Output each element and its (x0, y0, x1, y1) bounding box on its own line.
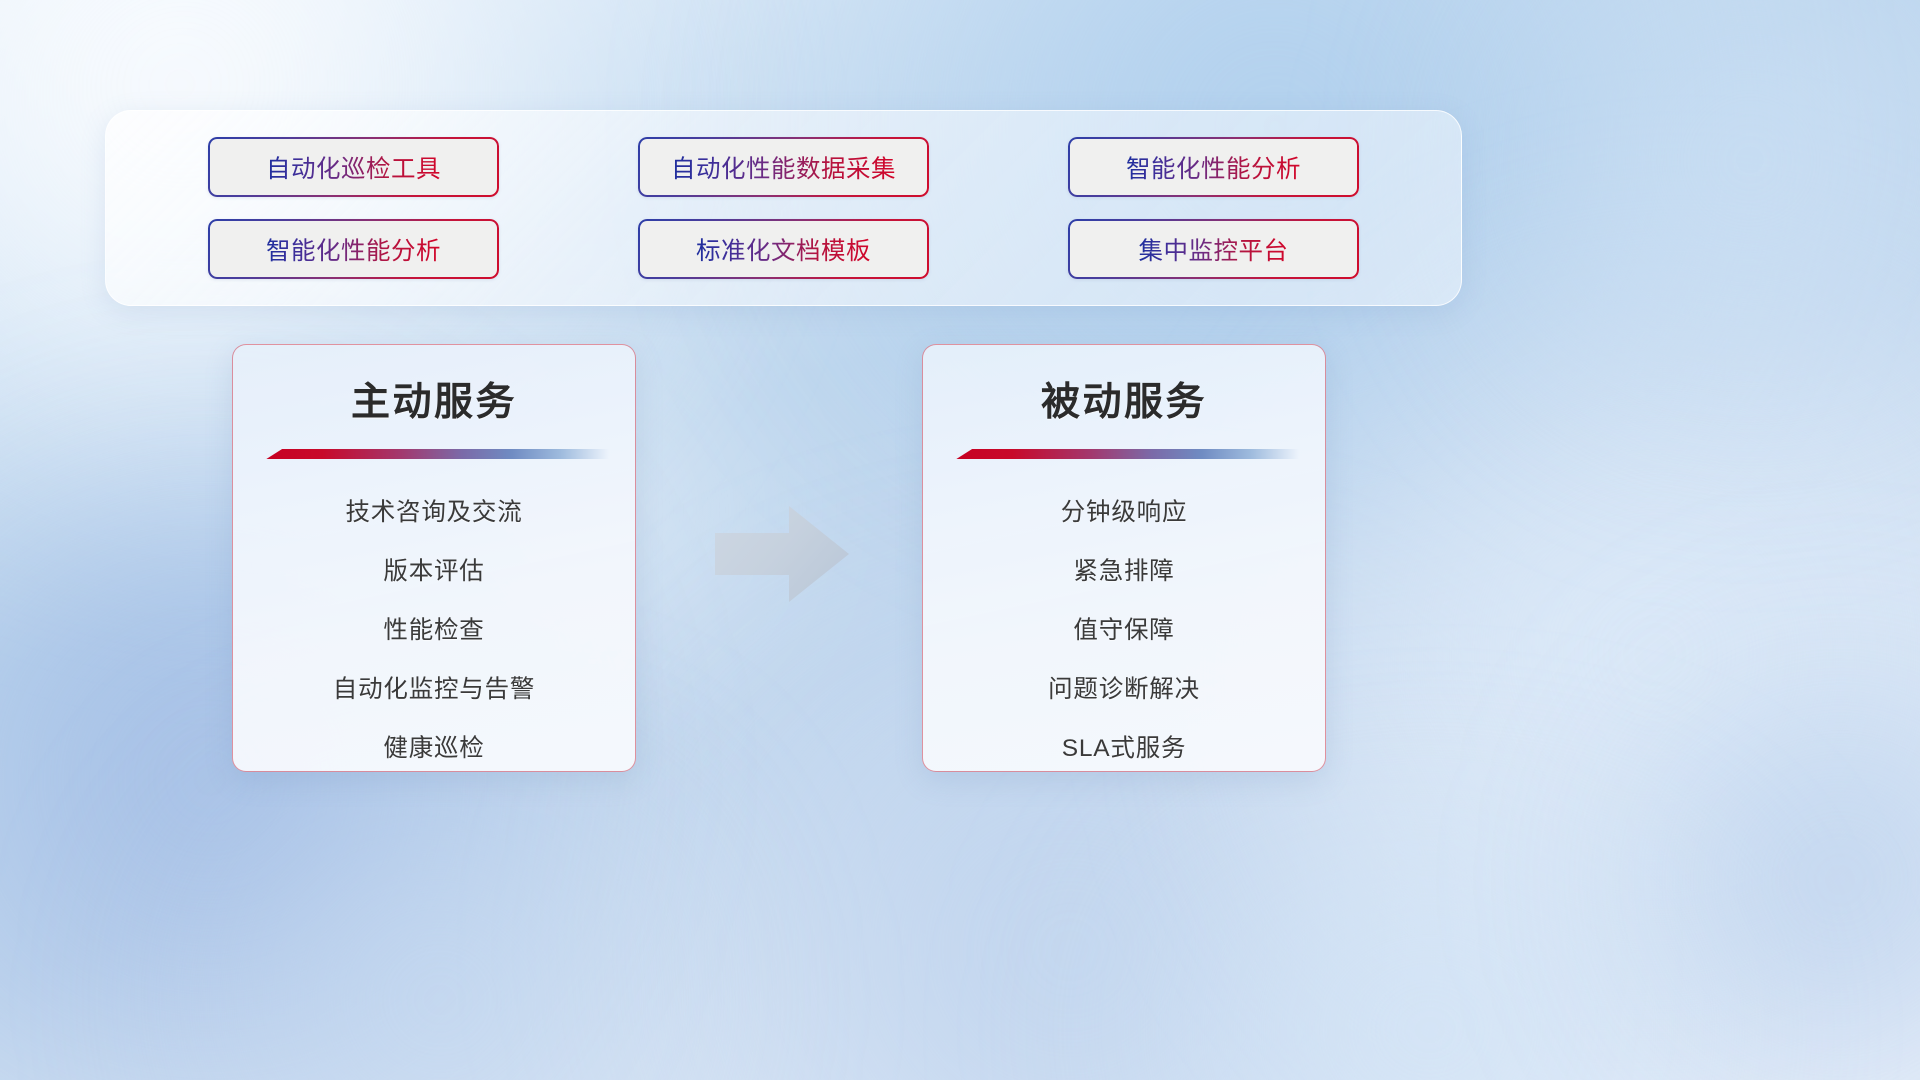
capability-tag-panel: 自动化巡检工具 自动化性能数据采集 智能化性能分析 智能化性能分析 标准化文档模… (105, 110, 1462, 306)
passive-service-card: 被动服务 分钟级响应 紧急排障 值守保障 问题诊断解决 SLA式服务 (922, 344, 1326, 772)
capability-tag-label: 标准化文档模板 (696, 232, 871, 267)
background-glow-bottom-left (60, 760, 820, 1080)
gradient-rule (259, 449, 609, 459)
list-item: 健康巡检 (383, 729, 484, 764)
list-item: 紧急排障 (1073, 552, 1174, 587)
capability-tag-5[interactable]: 标准化文档模板 (638, 219, 929, 279)
gradient-rule (949, 449, 1299, 459)
passive-service-list: 分钟级响应 紧急排障 值守保障 问题诊断解决 SLA式服务 (923, 493, 1325, 764)
background-glow-bottom-right (980, 820, 1880, 1080)
capability-tag-4[interactable]: 智能化性能分析 (208, 219, 499, 279)
capability-tag-label: 自动化性能数据采集 (671, 150, 896, 185)
active-service-card-divider (259, 449, 609, 459)
background-glow-far-right (1580, 620, 1920, 1080)
list-item: 性能检查 (383, 611, 484, 646)
capability-tag-label: 智能化性能分析 (266, 232, 441, 267)
capability-tag-1[interactable]: 自动化巡检工具 (208, 137, 499, 197)
list-item: 值守保障 (1073, 611, 1174, 646)
list-item: 分钟级响应 (1061, 493, 1188, 528)
background-glow-top-right (1400, 0, 1920, 440)
capability-tag-label: 集中监控平台 (1139, 232, 1289, 267)
capability-tag-label: 自动化巡检工具 (266, 150, 441, 185)
capability-tag-label: 智能化性能分析 (1126, 150, 1301, 185)
arrow-right-icon (715, 506, 849, 602)
passive-service-card-title: 被动服务 (923, 371, 1325, 427)
capability-tag-2[interactable]: 自动化性能数据采集 (638, 137, 929, 197)
list-item: 问题诊断解决 (1048, 670, 1200, 705)
background-glow-right (1250, 250, 1920, 1080)
active-service-card-title: 主动服务 (233, 371, 635, 427)
list-item: 版本评估 (383, 552, 484, 587)
capability-tag-grid: 自动化巡检工具 自动化性能数据采集 智能化性能分析 智能化性能分析 标准化文档模… (139, 137, 1429, 279)
passive-service-card-divider (949, 449, 1299, 459)
capability-tag-6[interactable]: 集中监控平台 (1068, 219, 1359, 279)
list-item: 自动化监控与告警 (333, 670, 535, 705)
list-item: SLA式服务 (1062, 729, 1187, 764)
capability-tag-3[interactable]: 智能化性能分析 (1068, 137, 1359, 197)
active-service-list: 技术咨询及交流 版本评估 性能检查 自动化监控与告警 健康巡检 (233, 493, 635, 764)
active-service-card: 主动服务 技术咨询及交流 版本评估 性能检查 自动化监控与告警 健康巡检 (232, 344, 636, 772)
list-item: 技术咨询及交流 (345, 493, 522, 528)
